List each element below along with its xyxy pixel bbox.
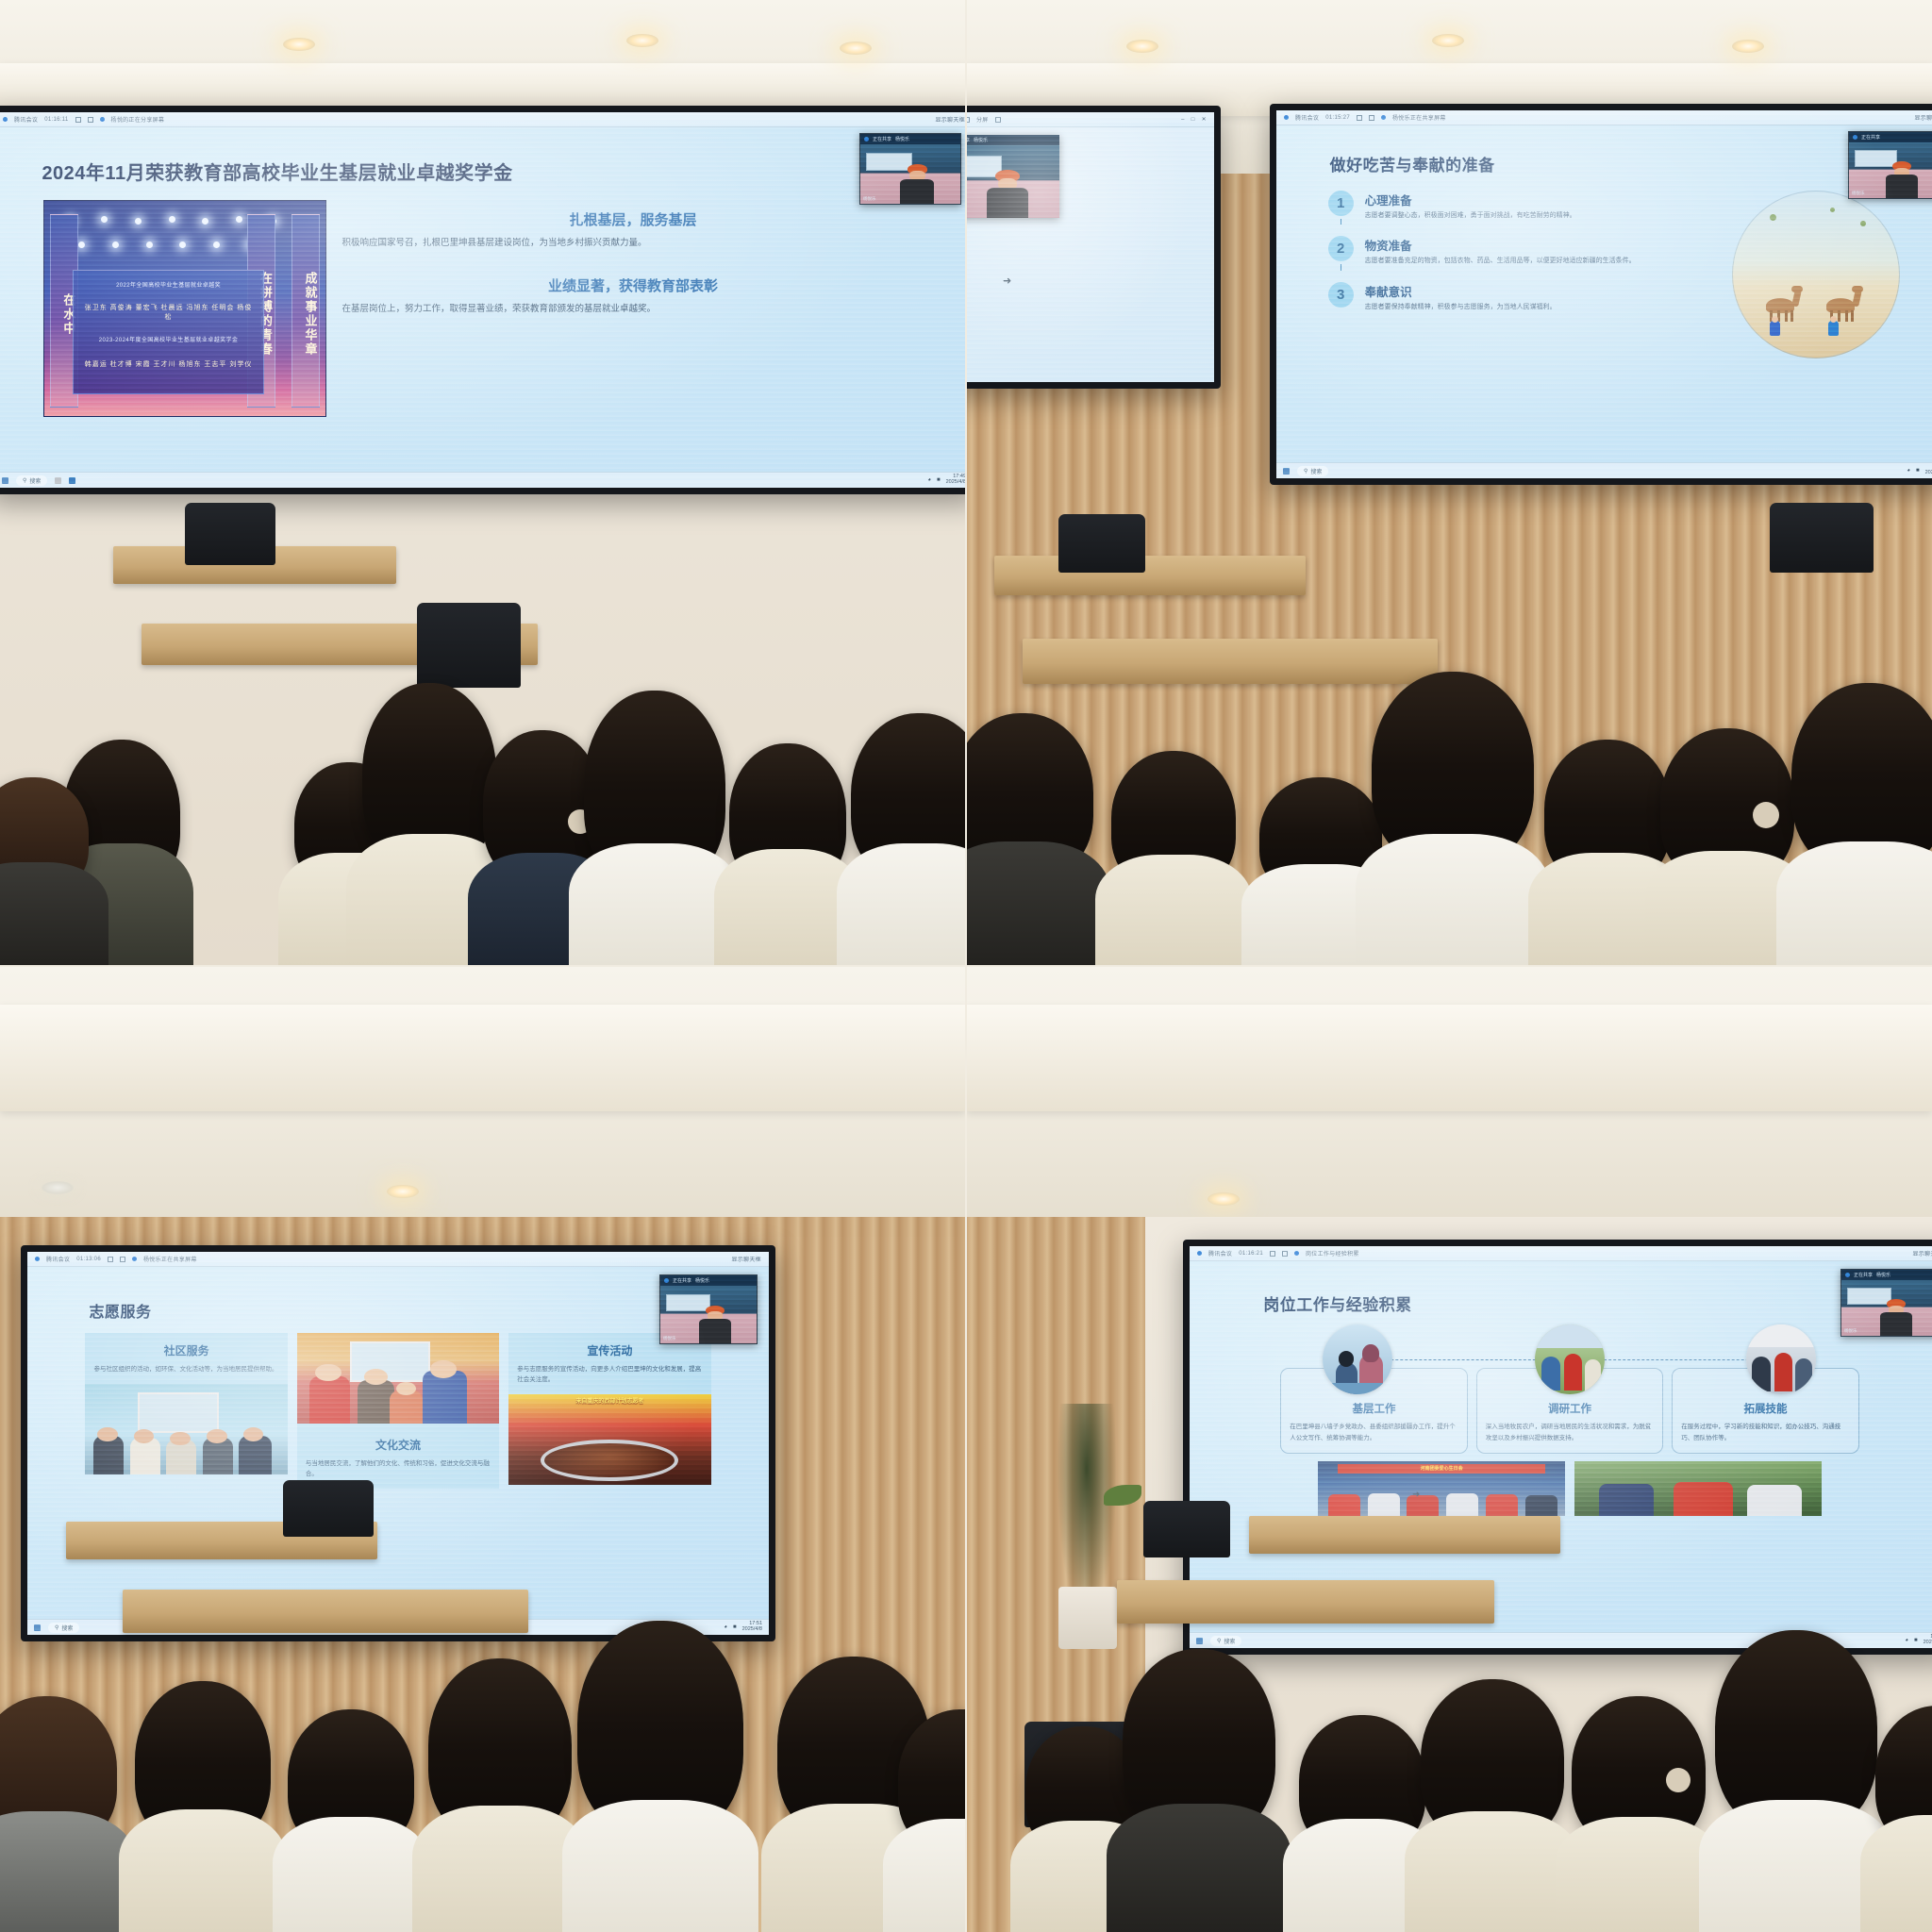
- photo-stage-backdrop: 2022年全国高校毕业生基层就业卓越奖 张卫东 高俊涛 董宏飞 杜晨远 冯旭东 …: [73, 270, 264, 394]
- windows-taskbar[interactable]: ⚲ 搜索 ◕ ■ 17:49 2025/4/8: [0, 472, 966, 488]
- slide-title: 岗位工作与经验积累: [1263, 1291, 1920, 1315]
- app-brand-label: 腾讯会议: [14, 115, 38, 124]
- card-heading: 基层工作: [1290, 1401, 1458, 1416]
- downlight-icon: [283, 38, 315, 51]
- meeting-app-bar: 腾讯会议 01:13:06 杨悦乐正在共享屏幕 显示聊天框: [27, 1252, 769, 1267]
- camel-icon: [1759, 290, 1803, 322]
- pip-video: 杨悦乐: [966, 145, 1059, 218]
- pip-name-tag: 杨悦乐: [863, 196, 876, 202]
- card-text: 深入当地牧民农户，调研当地居民的生活状况和需求，为脱贫攻坚以及乡村振兴提供数据支…: [1486, 1422, 1655, 1443]
- sharing-indicator-icon: [664, 1278, 669, 1283]
- camel-desert-photo: [1732, 191, 1900, 358]
- clock-date: 2025/4/8: [1924, 1641, 1932, 1646]
- pip-speaker-label: 杨悦乐: [1876, 1272, 1890, 1278]
- search-icon: ⚲: [23, 477, 26, 484]
- slide-text-2: 在基层岗位上，努力工作，取得显著业绩，荣获教育部颁发的基层就业卓越奖。: [341, 303, 924, 317]
- downlight-icon: [626, 34, 658, 47]
- downlight-icon: [1732, 40, 1764, 53]
- screen-share-icon: [1381, 115, 1386, 120]
- photo-team-skills: [1746, 1324, 1816, 1394]
- taskbar-app-icon[interactable]: [69, 477, 75, 484]
- app-brand-label: 腾讯会议: [46, 1255, 70, 1263]
- card-image-hotpot: 来自重庆的西部计划志愿者: [508, 1394, 710, 1485]
- app-brand-label: 腾讯会议: [1208, 1249, 1232, 1257]
- item-number: 3: [1328, 282, 1354, 308]
- meeting-app-bar: 腾讯会议 01:16:11 杨悦的正在分享屏幕 显示聊天框: [0, 112, 966, 127]
- image-caption: 来自重庆的西部计划志愿者: [512, 1398, 707, 1406]
- start-button[interactable]: [1283, 468, 1290, 475]
- pip-title-bar: 正在共享 杨悦乐: [660, 1275, 757, 1286]
- signal-icon: [108, 1257, 113, 1262]
- award-ceremony-photo: 在水中 在拼搏的青春 成就事业华章 2022年全国高校毕业生基层就业卓越奖 张卫…: [43, 200, 326, 417]
- windows-taskbar[interactable]: ⚲ 搜索 ◕ ■ 17:49 2025/4/8: [1190, 1632, 1932, 1648]
- slide-title: 做好吃苦与奉献的准备: [1330, 152, 1925, 175]
- screen-share-icon: [100, 117, 105, 122]
- start-button[interactable]: [1196, 1638, 1203, 1644]
- award-line-1: 2022年全国高校毕业生基层就业卓越奖: [85, 280, 252, 289]
- pin-icon[interactable]: [995, 117, 1001, 123]
- sharing-indicator-icon: [1853, 135, 1857, 140]
- meeting-timer: 01:15:27: [1325, 115, 1350, 121]
- list-item: 3 奉献意识 志愿者要保持奉献精神，积极参与志愿服务，为当地人民谋福利。: [1328, 282, 1720, 313]
- meeting-title-label: 杨悦乐正在共享屏幕: [143, 1255, 197, 1263]
- expand-icon[interactable]: [1369, 115, 1374, 121]
- meeting-timer: 01:16:11: [44, 117, 68, 123]
- search-placeholder: 搜索: [1224, 1637, 1235, 1645]
- panel-top-left: 腾讯会议 01:16:11 杨悦的正在分享屏幕 显示聊天框 2024年11月荣获…: [0, 0, 966, 966]
- pip-status-label: 正在共享: [673, 1277, 691, 1284]
- speaker-pip-window[interactable]: 正在共享 杨悦乐 杨悦乐: [966, 135, 1059, 218]
- windows-taskbar[interactable]: ⚲ 搜索 ◕ ■ 17:54 2025/4/8: [1276, 462, 1932, 478]
- pip-title-bar: 正在共享 杨悦乐: [1841, 1270, 1932, 1280]
- speaker-pip-window[interactable]: 正在共享 杨悦乐: [1848, 131, 1932, 199]
- card-column: 社区服务 参与社区组织的活动，如环保、文化活动等，为当地居民提供帮助。: [85, 1333, 287, 1489]
- wall-display[interactable]: 腾讯会议 01:16:11 杨悦的正在分享屏幕 显示聊天框 2024年11月荣获…: [0, 106, 966, 494]
- wifi-icon[interactable]: ◕: [1907, 468, 1910, 474]
- camel-icon: [1820, 290, 1863, 322]
- search-icon: ⚲: [1304, 468, 1307, 475]
- list-item: 1 心理准备 志愿者要调整心态，积极面对困难，勇于面对挑战，有吃苦耐劳的精神。: [1328, 191, 1720, 222]
- wifi-icon[interactable]: ◕: [724, 1624, 727, 1630]
- screen: 分屏 – □ ✕ 正在共享 杨悦乐: [966, 112, 1214, 382]
- search-placeholder: 搜索: [29, 476, 41, 485]
- start-button[interactable]: [2, 477, 8, 484]
- screen: 腾讯会议 01:15:27 杨悦乐正在共享屏幕 显示聊天框 做好吃苦与奉献的准备…: [1276, 110, 1932, 478]
- info-card: 文化交流 与当地居民交流，了解他们的文化、传统和习俗，促进文化交流与融合。: [297, 1424, 499, 1489]
- downlight-icon: [1126, 40, 1158, 53]
- clock-date: 2025/4/8: [1925, 471, 1932, 476]
- meeting-title-label: 杨悦乐正在共享屏幕: [1392, 113, 1446, 122]
- slide-heading-2: 业绩显著，获得教育部表彰: [341, 275, 924, 295]
- card-text: 参与志愿服务的宣传活动，向更多人介绍巴里坤的文化和发展，提高社会关注度。: [517, 1364, 702, 1385]
- taskbar-app-icon[interactable]: [55, 477, 61, 484]
- search-placeholder: 搜索: [1310, 467, 1322, 475]
- search-input[interactable]: ⚲ 搜索: [1297, 466, 1328, 476]
- pip-title-bar: 正在共享 杨悦乐: [860, 134, 960, 144]
- screen: 腾讯会议 01:16:21 岗位工作与经验积累 显示聊天框 岗位工作与经验积累: [1190, 1246, 1932, 1648]
- panel-bottom-right: 腾讯会议 01:16:21 岗位工作与经验积累 显示聊天框 岗位工作与经验积累: [966, 966, 1932, 1932]
- meeting-app-icon: [3, 117, 8, 122]
- photo-flag-group: [1574, 1461, 1822, 1516]
- search-input[interactable]: ⚲ 搜索: [16, 475, 47, 486]
- speaker-pip-window[interactable]: 正在共享 杨悦乐 杨悦乐: [859, 133, 961, 205]
- start-button[interactable]: [34, 1624, 41, 1631]
- meeting-app-bar: 腾讯会议 01:15:27 杨悦乐正在共享屏幕 显示聊天框: [1276, 110, 1932, 125]
- meeting-timer: 01:16:21: [1239, 1251, 1263, 1257]
- chat-toggle-label[interactable]: 显示聊天框: [1914, 113, 1932, 122]
- app-brand-label: 腾讯会议: [1295, 113, 1319, 122]
- photo-banner-right: 成就事业华章: [291, 214, 320, 408]
- battery-icon[interactable]: ■: [937, 477, 941, 483]
- maximize-icon[interactable]: □: [1191, 117, 1195, 123]
- mouse-cursor-icon: ➜: [1412, 1490, 1420, 1500]
- item-heading: 物资准备: [1365, 236, 1636, 254]
- photo-field-survey: [1535, 1324, 1605, 1394]
- search-icon: ⚲: [1217, 1638, 1221, 1644]
- sharing-indicator-icon: [1845, 1273, 1850, 1277]
- wifi-icon[interactable]: ◕: [1905, 1638, 1908, 1643]
- meeting-title-label: 杨悦的正在分享屏幕: [111, 115, 165, 124]
- photo-banner-label: 河南团委爱心生日会: [1338, 1464, 1545, 1473]
- plant-pot: [1058, 1587, 1117, 1649]
- card-column: 宣传活动 参与志愿服务的宣传活动，向更多人介绍巴里坤的文化和发展，提高社会关注度…: [508, 1333, 710, 1489]
- search-icon: ⚲: [55, 1624, 58, 1631]
- card-text: 在服务过程中，学习新的技能和知识，如办公技巧、沟通技巧、团队协作等。: [1681, 1422, 1850, 1443]
- pip-video: 杨悦乐: [660, 1286, 757, 1343]
- item-text: 志愿者要调整心态，积极面对困难，勇于面对挑战，有吃苦耐劳的精神。: [1365, 211, 1576, 222]
- panel-top-right: 分屏 – □ ✕ 正在共享 杨悦乐: [966, 0, 1932, 966]
- pip-status-label: 正在共享: [1854, 1272, 1873, 1278]
- slide-4: 岗位工作与经验积累: [1190, 1261, 1932, 1632]
- rider-icon: [1828, 321, 1839, 336]
- downlight-icon: [42, 1181, 74, 1194]
- meeting-app-icon: [35, 1257, 40, 1261]
- photo-collage: 腾讯会议 01:16:11 杨悦的正在分享屏幕 显示聊天框 2024年11月荣获…: [0, 0, 1932, 1932]
- pip-status-label: 正在共享: [1861, 134, 1880, 141]
- award-line-3: 2023-2024年度全国高校毕业生基层就业卓越奖学金: [83, 335, 254, 343]
- photo-office: [1323, 1324, 1392, 1394]
- card-text: 参与社区组织的活动，如环保、文化活动等，为当地居民提供帮助。: [93, 1364, 278, 1374]
- battery-icon[interactable]: ■: [1914, 1638, 1918, 1643]
- photo-birthday-event: 河南团委爱心生日会: [1318, 1461, 1565, 1516]
- search-input[interactable]: ⚲ 搜索: [48, 1623, 79, 1633]
- award-line-4: 韩嘉运 杜才博 宋霞 王才川 杨旭东 王志平 刘学仪: [81, 359, 256, 369]
- card-text: 在巴里坤县八墙子乡党政办、县委组织部援疆办工作，提升个人公文写作、统筹协调等能力…: [1290, 1422, 1458, 1443]
- panel-bottom-left: 腾讯会议 01:13:06 杨悦乐正在共享屏幕 显示聊天框 志愿服务 社区服务: [0, 966, 966, 1932]
- wall-display[interactable]: 腾讯会议 01:16:21 岗位工作与经验积累 显示聊天框 岗位工作与经验积累: [1183, 1240, 1932, 1655]
- card-heading: 社区服务: [93, 1342, 278, 1358]
- speaker-pip-window[interactable]: 正在共享 杨悦乐 杨悦乐: [659, 1274, 758, 1344]
- info-card: 社区服务 参与社区组织的活动，如环保、文化活动等，为当地居民提供帮助。: [85, 1333, 287, 1384]
- card-column: 文化交流 与当地居民交流，了解他们的文化、传统和习俗，促进文化交流与融合。: [297, 1333, 499, 1489]
- pip-name-tag: 杨悦乐: [663, 1336, 676, 1341]
- slide-2: 做好吃苦与奉献的准备 1 心理准备 志愿者要调整心态，积极面对困难，勇于面对挑战…: [1276, 125, 1932, 462]
- search-placeholder: 搜索: [61, 1624, 73, 1632]
- item-heading: 奉献意识: [1365, 282, 1557, 300]
- rider-icon: [1770, 321, 1780, 336]
- wall-display[interactable]: 腾讯会议 01:13:06 杨悦乐正在共享屏幕 显示聊天框 志愿服务 社区服务: [21, 1245, 775, 1641]
- card-heading: 文化交流: [306, 1437, 491, 1453]
- chat-toggle-label[interactable]: 显示聊天框: [1912, 1249, 1932, 1257]
- slide-heading-1: 扎根基层，服务基层: [341, 209, 924, 229]
- pip-status-label: 正在共享: [873, 136, 891, 142]
- slide-title: 2024年11月荣获教育部高校毕业生基层就业卓越奖学金: [42, 158, 933, 185]
- meeting-app-bar: 腾讯会议 01:16:21 岗位工作与经验积累 显示聊天框: [1190, 1246, 1932, 1261]
- item-heading: 心理准备: [1365, 191, 1576, 208]
- clock-date: 2025/4/8: [946, 480, 966, 486]
- card-heading: 拓展技能: [1681, 1401, 1850, 1416]
- card-image-visit: [297, 1333, 499, 1424]
- wifi-icon[interactable]: ◕: [927, 477, 931, 483]
- downlight-icon: [387, 1185, 419, 1198]
- meeting-app-icon: [1284, 115, 1289, 120]
- meeting-title-label: 岗位工作与经验积累: [1306, 1249, 1359, 1257]
- list-item: 2 物资准备 志愿者要准备充足的物资，包括衣物、药品、生活用品等，以便更好地适应…: [1328, 236, 1720, 267]
- meeting-app-icon: [1197, 1251, 1202, 1256]
- hotpot-icon: [541, 1440, 678, 1481]
- card-text: 与当地居民交流，了解他们的文化、传统和习俗，促进文化交流与融合。: [306, 1458, 491, 1479]
- layout-label: 分屏: [976, 115, 989, 124]
- downlight-icon: [840, 42, 872, 55]
- collage-divider-horizontal: [0, 965, 1932, 967]
- wood-slat-wall: [966, 1217, 1145, 1932]
- item-text: 志愿者要保持奉献精神，积极参与志愿服务，为当地人民谋福利。: [1365, 303, 1557, 313]
- signal-icon: [1270, 1251, 1275, 1257]
- screen-share-icon: [1294, 1251, 1299, 1256]
- wall-display[interactable]: 腾讯会议 01:15:27 杨悦乐正在共享屏幕 显示聊天框 做好吃苦与奉献的准备…: [1270, 104, 1932, 485]
- expand-icon[interactable]: [120, 1257, 125, 1262]
- secondary-display[interactable]: 分屏 – □ ✕ 正在共享 杨悦乐: [966, 106, 1221, 389]
- signal-icon: [1357, 115, 1362, 121]
- slide-text-1: 积极响应国家号召，扎根巴里坤县基层建设岗位，为当地乡村振兴贡献力量。: [341, 237, 924, 251]
- search-input[interactable]: ⚲ 搜索: [1210, 1636, 1241, 1646]
- windows-taskbar[interactable]: ⚲ 搜索 ◕ ■ 17:51 2025/4/8: [27, 1619, 769, 1635]
- chat-toggle-label[interactable]: 显示聊天框: [731, 1255, 761, 1263]
- card-heading: 调研工作: [1486, 1401, 1655, 1416]
- window-controls-bar: 分屏 – □ ✕: [966, 112, 1214, 127]
- ceiling-soffit: [966, 1005, 1932, 1111]
- mouse-cursor-icon: ➜: [1003, 275, 1011, 287]
- screen: 腾讯会议 01:16:11 杨悦的正在分享屏幕 显示聊天框 2024年11月荣获…: [0, 112, 966, 488]
- pip-video: 杨悦乐: [1849, 142, 1932, 198]
- pip-title-bar: 正在共享: [1849, 132, 1932, 142]
- screen: 腾讯会议 01:13:06 杨悦乐正在共享屏幕 显示聊天框 志愿服务 社区服务: [27, 1252, 769, 1635]
- award-line-2: 张卫东 高俊涛 董宏飞 杜晨远 冯旭东 任明会 杨俊松: [81, 303, 256, 322]
- pip-speaker-label: 杨悦乐: [695, 1277, 709, 1284]
- numbered-list: 1 心理准备 志愿者要调整心态，积极面对困难，勇于面对挑战，有吃苦耐劳的精神。 …: [1328, 191, 1720, 358]
- chat-toggle-label[interactable]: 显示聊天框: [935, 115, 965, 124]
- clock-date: 2025/4/8: [742, 1627, 762, 1633]
- slide-1: 2024年11月荣获教育部高校毕业生基层就业卓越奖学金 在水中 在拼搏的青春: [0, 127, 966, 472]
- minimize-icon[interactable]: –: [1181, 117, 1185, 123]
- sharing-indicator-icon: [864, 137, 869, 142]
- meeting-timer: 01:13:06: [76, 1257, 101, 1262]
- slide-3: 志愿服务 社区服务 参与社区组织的活动，如环保、文化活动等，为当地居民提供帮助。: [27, 1267, 769, 1619]
- battery-icon[interactable]: ■: [733, 1624, 737, 1630]
- expand-icon[interactable]: [1282, 1251, 1288, 1257]
- pip-speaker-label: 杨悦乐: [974, 137, 988, 143]
- battery-icon[interactable]: ■: [1916, 468, 1920, 474]
- item-text: 志愿者要准备充足的物资，包括衣物、药品、生活用品等，以便更好地适应新疆的生活条件…: [1365, 257, 1636, 267]
- pip-video: 杨悦乐: [860, 144, 960, 204]
- card-heading: 宣传活动: [517, 1342, 702, 1358]
- pip-speaker-label: 杨悦乐: [895, 136, 909, 142]
- item-number: 2: [1328, 236, 1354, 261]
- downlight-icon: [1432, 34, 1464, 47]
- close-icon[interactable]: ✕: [1202, 116, 1207, 123]
- house-window: [350, 1341, 431, 1382]
- screen-share-icon: [132, 1257, 137, 1261]
- pip-title-bar: 正在共享 杨悦乐: [966, 135, 1059, 145]
- ceiling-soffit: [0, 1005, 966, 1111]
- picture-frame: [138, 1392, 219, 1433]
- expand-icon[interactable]: [88, 117, 93, 123]
- item-number: 1: [1328, 191, 1354, 216]
- card-image-community: [85, 1384, 287, 1474]
- downlight-icon: [1207, 1192, 1240, 1206]
- slide-title: 志愿服务: [89, 1299, 739, 1322]
- pip-name-tag: 杨悦乐: [1852, 191, 1865, 196]
- signal-icon: [75, 117, 81, 123]
